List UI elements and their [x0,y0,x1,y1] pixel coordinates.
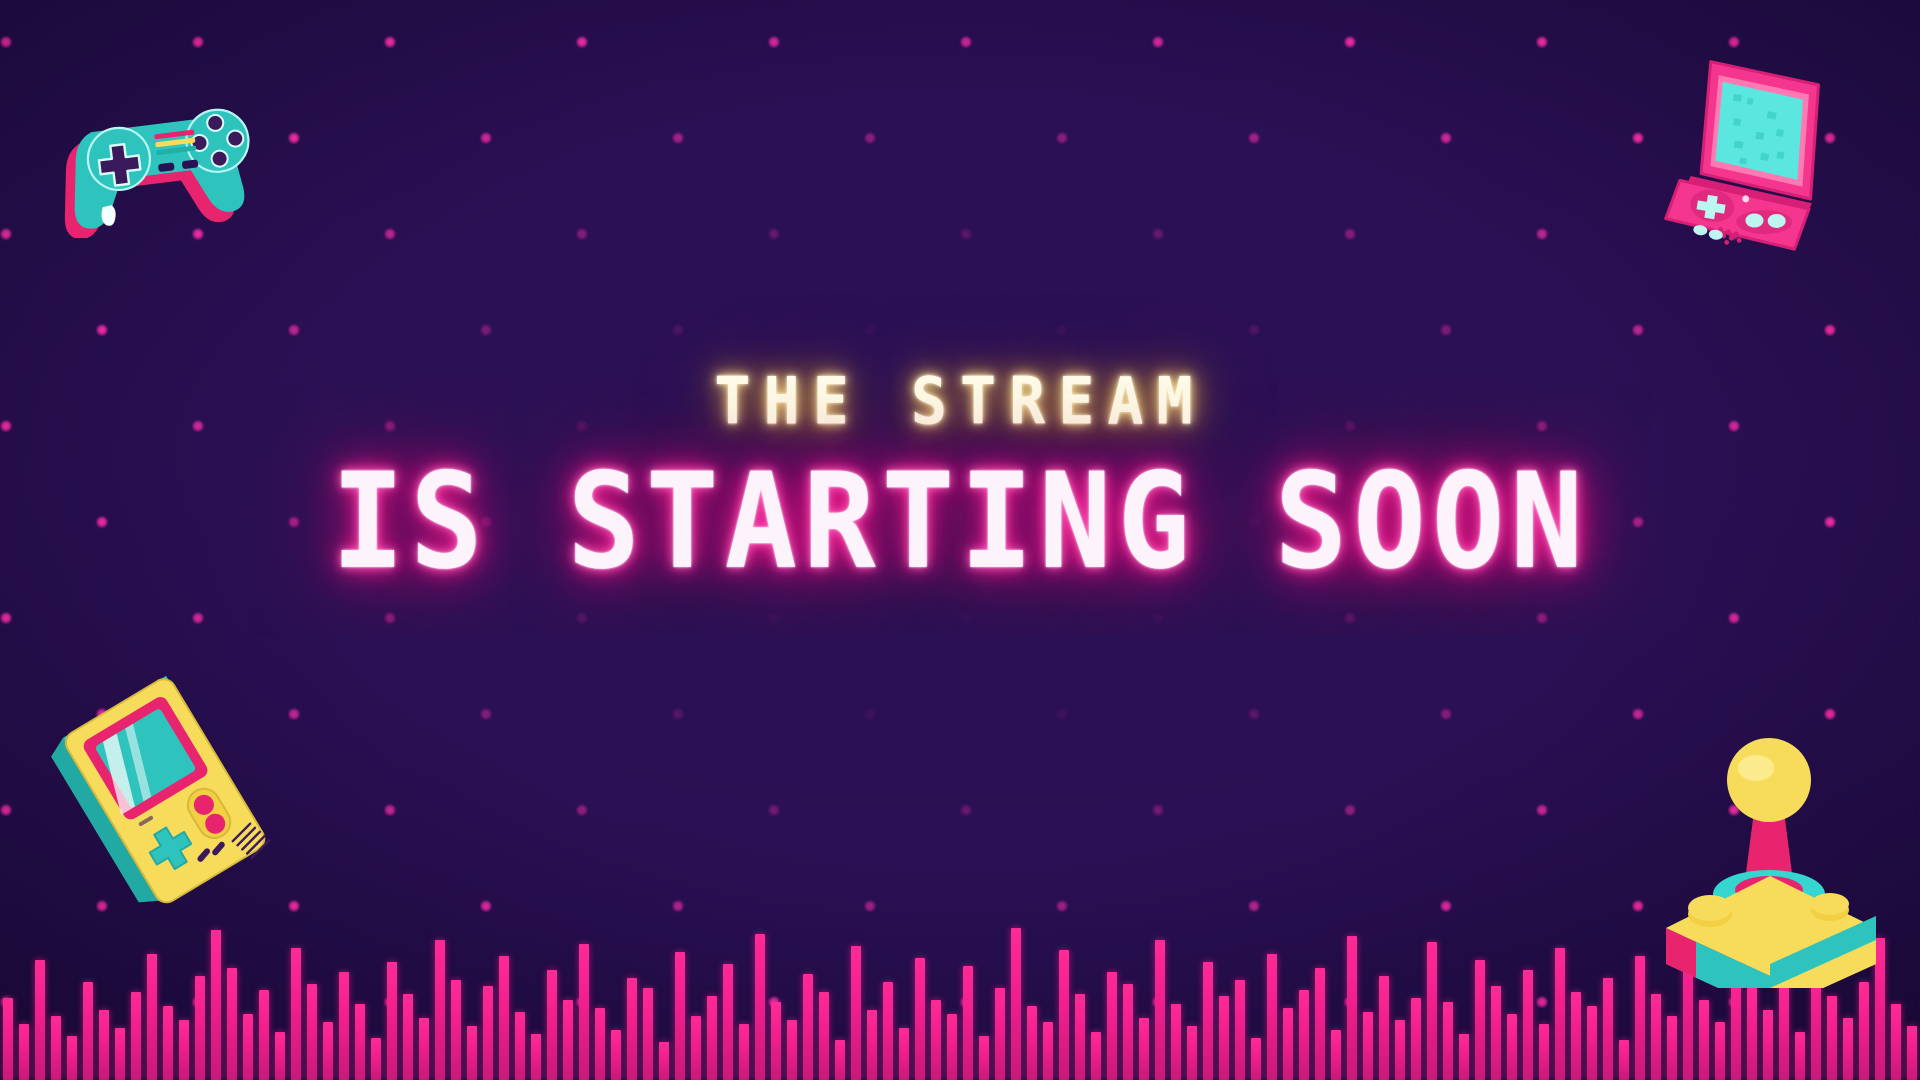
waveform-bar [1715,1022,1726,1080]
waveform-bar [403,994,414,1080]
waveform-bar [435,940,446,1080]
waveform-bar [739,1024,750,1080]
waveform-bar [1507,1014,1518,1080]
waveform-bar [67,1036,78,1080]
waveform-bar [1427,942,1438,1080]
waveform-bar [467,1026,478,1080]
headline-text: IS STARTING SOON [331,455,1588,587]
waveform-bar [483,986,494,1080]
waveform-bar [1635,956,1646,1080]
waveform-bar [771,1002,782,1080]
waveform-bar [1907,1026,1918,1080]
waveform-bar [387,962,398,1080]
waveform-bar [1187,1026,1198,1080]
waveform-bar [979,1036,990,1080]
waveform-bar [163,1006,174,1080]
game-boy-icon [42,672,292,916]
waveform-bar [595,1008,606,1080]
waveform-bar [1283,1008,1294,1080]
waveform-bar [1395,1020,1406,1080]
waveform-bar [51,1016,62,1080]
waveform-bar [1763,1010,1774,1080]
waveform-bar [275,1032,286,1080]
waveform-bar [1043,1022,1054,1080]
waveform-bar [1555,948,1566,1080]
waveform-bar [547,970,558,1080]
waveform-bar [1171,1004,1182,1080]
waveform-bar [259,990,270,1080]
waveform-bar [99,1010,110,1080]
waveform-bar [1603,978,1614,1080]
waveform-bar [915,958,926,1080]
waveform-bar [1267,954,1278,1080]
waveform-bar [995,988,1006,1080]
waveform-bar [515,1012,526,1080]
waveform-bar [1667,1016,1678,1080]
waveform-bar [499,956,510,1080]
waveform-bar [883,982,894,1080]
waveform-bar [3,998,14,1080]
waveform-bar [627,978,638,1080]
waveform-bar [963,966,974,1080]
waveform-bar [1347,936,1358,1080]
waveform-bar [1203,962,1214,1080]
waveform-bar [1443,1002,1454,1080]
waveform-bar [723,964,734,1080]
waveform-bar [1523,970,1534,1080]
stream-overlay-screen: THE STREAM IS STARTING SOON [0,0,1920,1080]
waveform-bar [1827,996,1838,1080]
waveform-bar [691,1016,702,1080]
kicker-text: THE STREAM [714,370,1205,435]
waveform-bar [707,996,718,1080]
waveform-bar [867,1010,878,1080]
waveform-bar [1251,1038,1262,1080]
waveform-bar [1619,1040,1630,1080]
waveform-bar [819,992,830,1080]
waveform-bar [1235,980,1246,1080]
waveform-bar [1331,1030,1342,1080]
waveform-bar [323,1022,334,1080]
waveform-bar [659,1042,670,1080]
waveform-bar [1315,968,1326,1080]
waveform-bar [1539,1024,1550,1080]
waveform-bar [1795,1032,1806,1080]
waveform-bar [227,968,238,1080]
waveform-bar [1587,1006,1598,1080]
waveform-bar [1747,988,1758,1080]
waveform-bar [675,952,686,1080]
handheld-console-icon [1650,40,1865,259]
waveform-bar [419,1018,430,1080]
waveform-bar [1411,998,1422,1080]
waveform-bar [339,972,350,1080]
waveform-bar [1843,1018,1854,1080]
waveform-bar [1651,994,1662,1080]
waveform-bar [147,954,158,1080]
waveform-bar [579,944,590,1080]
waveform-bar [1379,976,1390,1080]
waveform-bar [1699,1000,1710,1080]
waveform-bar [1011,928,1022,1080]
waveform-bar [307,984,318,1080]
waveform-bar [835,1040,846,1080]
waveform-bar [1059,950,1070,1080]
waveform-bar [1891,1004,1902,1080]
arcade-joystick-icon [1648,718,1893,992]
waveform-bar [1155,940,1166,1080]
waveform-bar [19,1024,30,1080]
waveform-bar [291,948,302,1080]
waveform-bar [179,1020,190,1080]
waveform-bar [195,976,206,1080]
waveform-bar [1107,972,1118,1080]
waveform-bar [947,1014,958,1080]
waveform-bar [243,1014,254,1080]
waveform-bar [1075,994,1086,1080]
waveform-bar [1571,992,1582,1080]
waveform-bar [1123,984,1134,1080]
waveform-bar [355,1004,366,1080]
waveform-bar [531,1034,542,1080]
title-block: THE STREAM IS STARTING SOON [0,372,1920,580]
waveform-bar [451,980,462,1080]
waveform-bar [1475,960,1486,1080]
waveform-bar [371,1038,382,1080]
waveform-bar [563,1000,574,1080]
waveform-bar [115,1028,126,1080]
waveform-bar [1299,990,1310,1080]
waveform-bar [83,982,94,1080]
waveform-bar [611,1030,622,1080]
waveform-bar [211,930,222,1080]
waveform-bar [899,1028,910,1080]
waveform-bar [1091,1032,1102,1080]
waveform-bar [1219,996,1230,1080]
waveform-bar [787,1020,798,1080]
waveform-bar [851,946,862,1080]
waveform-bar [755,934,766,1080]
waveform-bar [803,974,814,1080]
waveform-bar [1859,982,1870,1080]
waveform-bar [643,988,654,1080]
waveform-bar [1139,1018,1150,1080]
gamepad-icon [60,58,290,242]
waveform-bar [35,960,46,1080]
waveform-bar [1491,986,1502,1080]
waveform-bar [1363,1012,1374,1080]
waveform-bar [1459,1034,1470,1080]
waveform-bar [931,1000,942,1080]
waveform-bar [1027,1006,1038,1080]
waveform-bar [131,992,142,1080]
